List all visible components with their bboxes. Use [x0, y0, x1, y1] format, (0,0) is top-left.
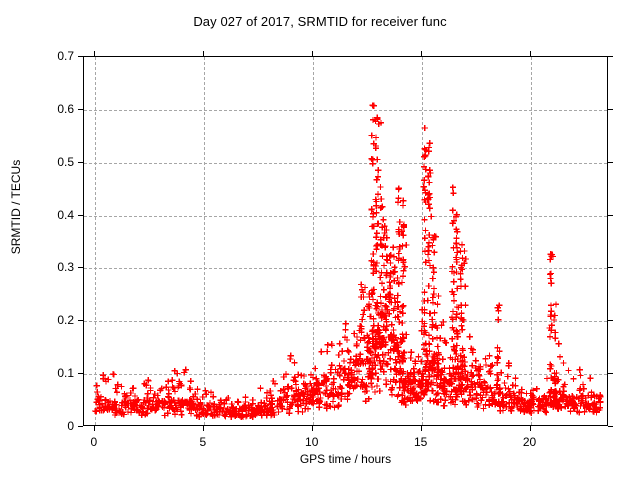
y-tick-mark-right: [608, 56, 613, 57]
y-tick-mark: [78, 426, 83, 427]
y-tick-label: 0.6: [4, 102, 74, 116]
gridline-horizontal: [84, 321, 607, 322]
y-tick-label: 0.2: [4, 313, 74, 327]
gridline-horizontal: [84, 163, 607, 164]
y-tick-mark-right: [608, 426, 613, 427]
y-axis-label: SRMTID / TECUs: [9, 127, 23, 287]
x-tick-mark: [421, 426, 422, 431]
page-title: Day 027 of 2017, SRMTID for receiver fun…: [0, 14, 640, 29]
x-tick-label: 20: [500, 435, 560, 449]
y-tick-mark-right: [608, 373, 613, 374]
y-tick-label: 0.1: [4, 366, 74, 380]
x-tick-label: 5: [173, 435, 233, 449]
x-tick-label: 0: [64, 435, 124, 449]
chart-root: Day 027 of 2017, SRMTID for receiver fun…: [0, 0, 640, 480]
gridline-horizontal: [84, 110, 607, 111]
y-tick-mark-right: [608, 267, 613, 268]
x-tick-mark: [94, 426, 95, 431]
gridline-horizontal: [84, 216, 607, 217]
y-tick-label: 0.7: [4, 49, 74, 63]
y-tick-label: 0: [4, 419, 74, 433]
plot-area: [83, 56, 608, 426]
gridline-horizontal: [84, 268, 607, 269]
y-tick-mark-right: [608, 215, 613, 216]
x-tick-mark: [312, 426, 313, 431]
gridline-vertical: [531, 57, 532, 425]
gridline-vertical: [422, 57, 423, 425]
y-tick-mark-right: [608, 162, 613, 163]
gridline-vertical: [313, 57, 314, 425]
x-tick-mark: [203, 426, 204, 431]
x-tick-label: 15: [391, 435, 451, 449]
gridline-horizontal: [84, 374, 607, 375]
y-tick-mark-right: [608, 109, 613, 110]
scatter-points: [84, 57, 607, 425]
x-tick-mark: [530, 426, 531, 431]
x-axis-label: GPS time / hours: [83, 452, 608, 466]
gridline-vertical: [204, 57, 205, 425]
y-tick-mark-right: [608, 320, 613, 321]
x-tick-label: 10: [282, 435, 342, 449]
gridline-vertical: [95, 57, 96, 425]
